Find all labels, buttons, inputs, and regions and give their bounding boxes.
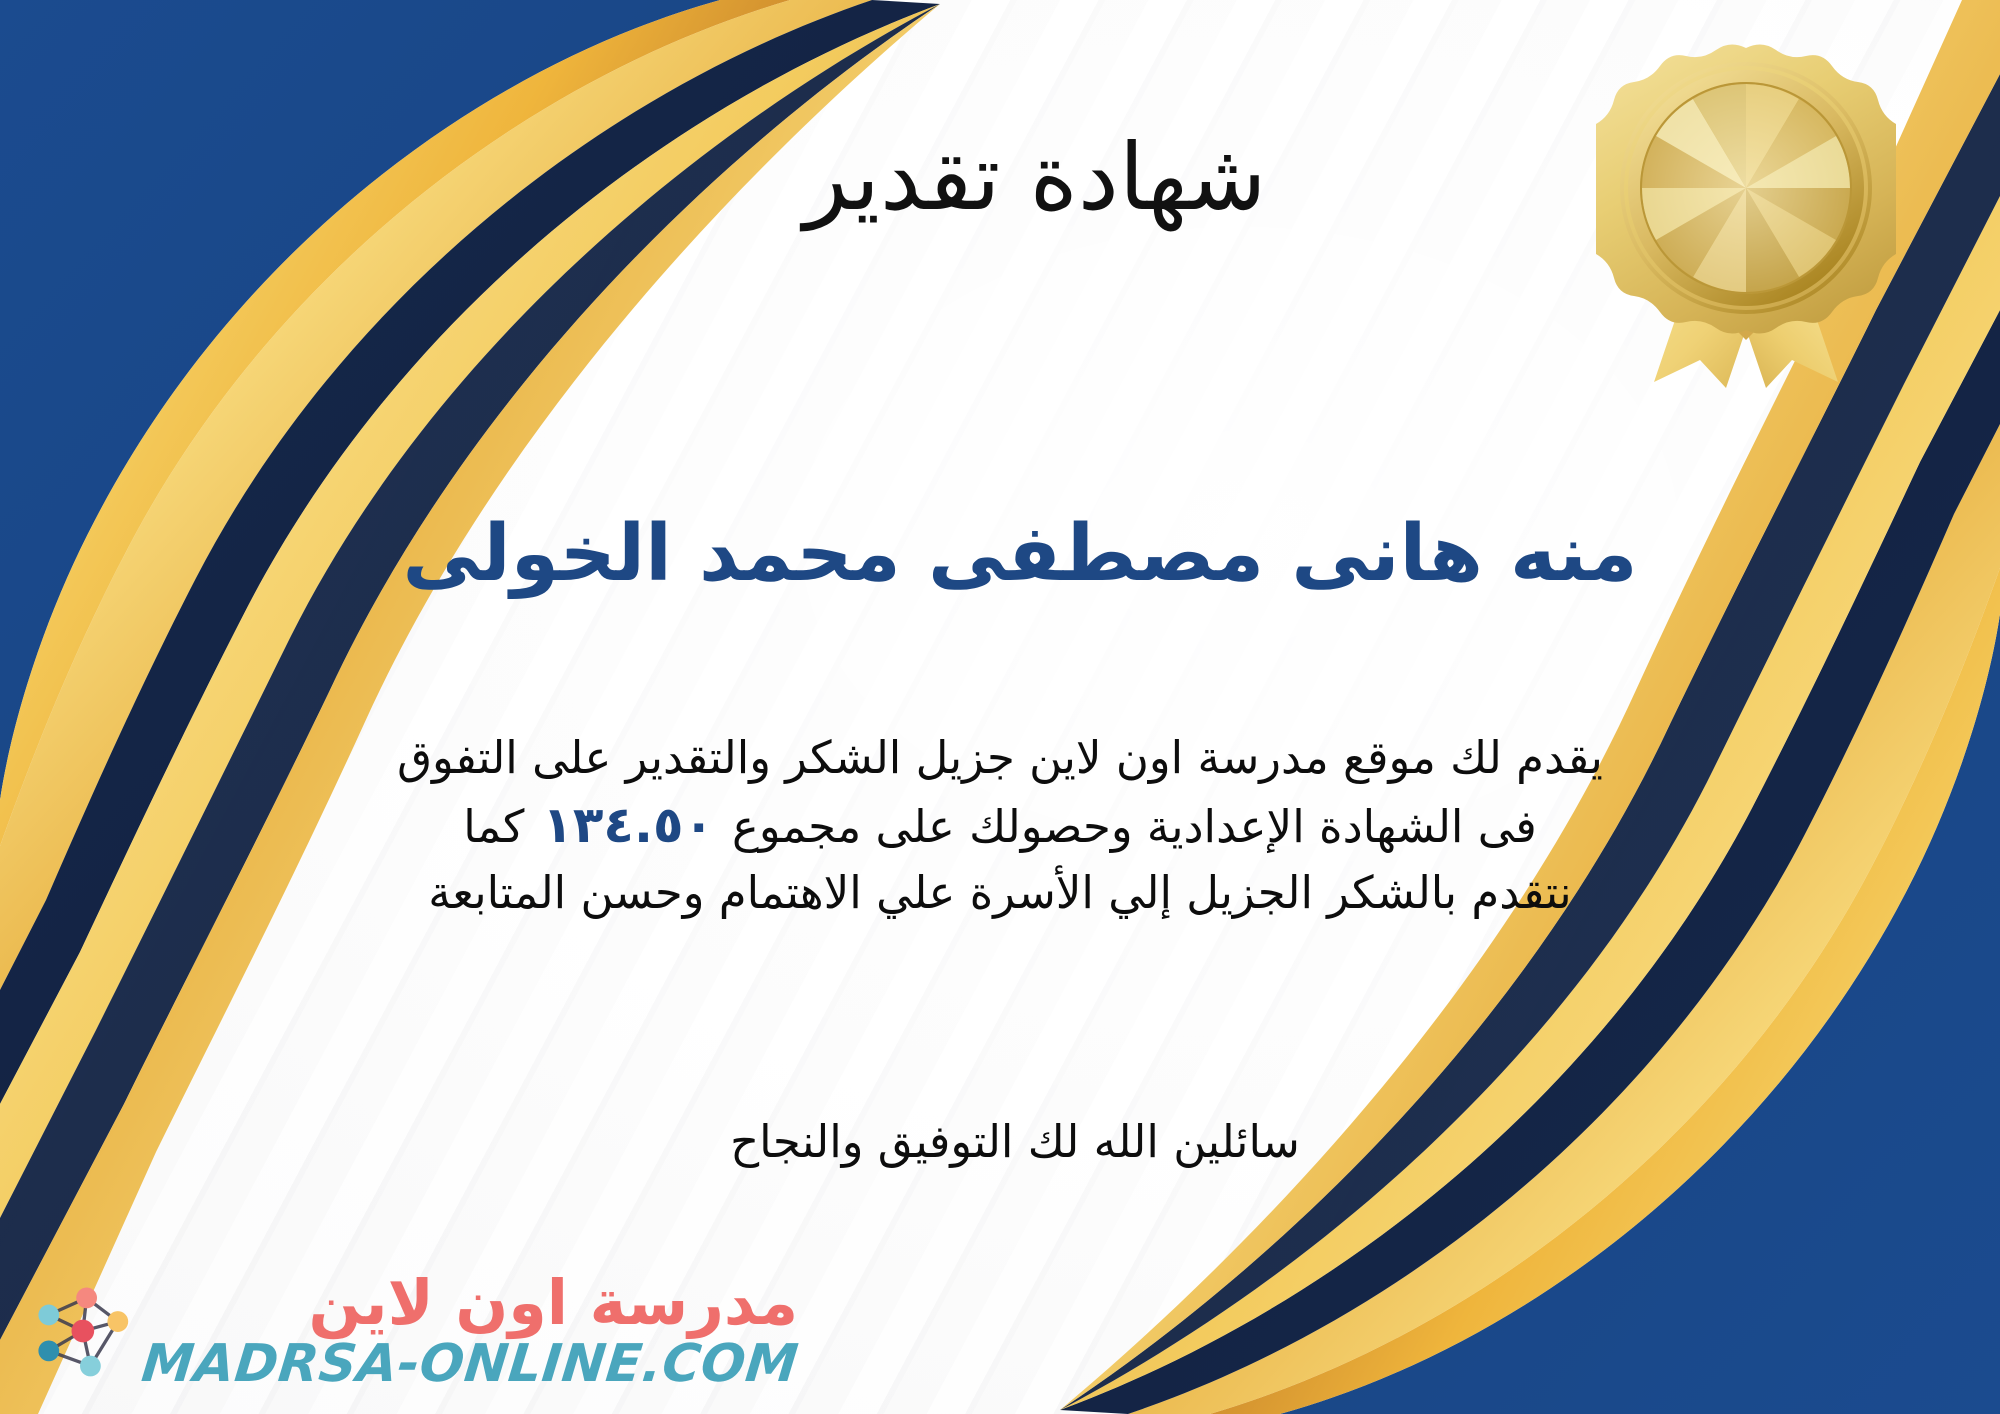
body-line-2-text: فى الشهادة الإعدادية وحصولك على مجموع bbox=[732, 800, 1537, 853]
body-line-3: نتقدم بالشكر الجزيل إلي الأسرة علي الاهت… bbox=[60, 861, 1940, 925]
grade-value: ١٣٤.٥٠ bbox=[524, 796, 732, 854]
body-text: يقدم لك موقع مدرسة اون لاين جزيل الشكر و… bbox=[60, 726, 1940, 925]
closing-line: سائلين الله لك التوفيق والنجاح bbox=[0, 1110, 2000, 1173]
logo-arabic-name: مدرسة اون لاين bbox=[309, 1272, 799, 1334]
network-nodes-icon bbox=[28, 1279, 132, 1383]
site-logo[interactable]: مدرسة اون لاين MADRSA-ONLINE.COM bbox=[28, 1272, 798, 1390]
page-title: شهادة تقدير bbox=[0, 128, 2000, 227]
body-line-1: يقدم لك موقع مدرسة اون لاين جزيل الشكر و… bbox=[60, 726, 1940, 790]
certificate-content: شهادة تقدير منه هانى مصطفى محمد الخولى ي… bbox=[0, 0, 2000, 1414]
body-line-2: فى الشهادة الإعدادية وحصولك على مجموع١٣٤… bbox=[60, 790, 1940, 861]
certificate-page: شهادة تقدير منه هانى مصطفى محمد الخولى ي… bbox=[0, 0, 2000, 1414]
recipient-name: منه هانى مصطفى محمد الخولى bbox=[0, 510, 2000, 600]
logo-text-group: مدرسة اون لاين MADRSA-ONLINE.COM bbox=[142, 1272, 798, 1390]
logo-website: MADRSA-ONLINE.COM bbox=[139, 1338, 801, 1390]
body-line-2-suffix: كما bbox=[463, 800, 524, 853]
